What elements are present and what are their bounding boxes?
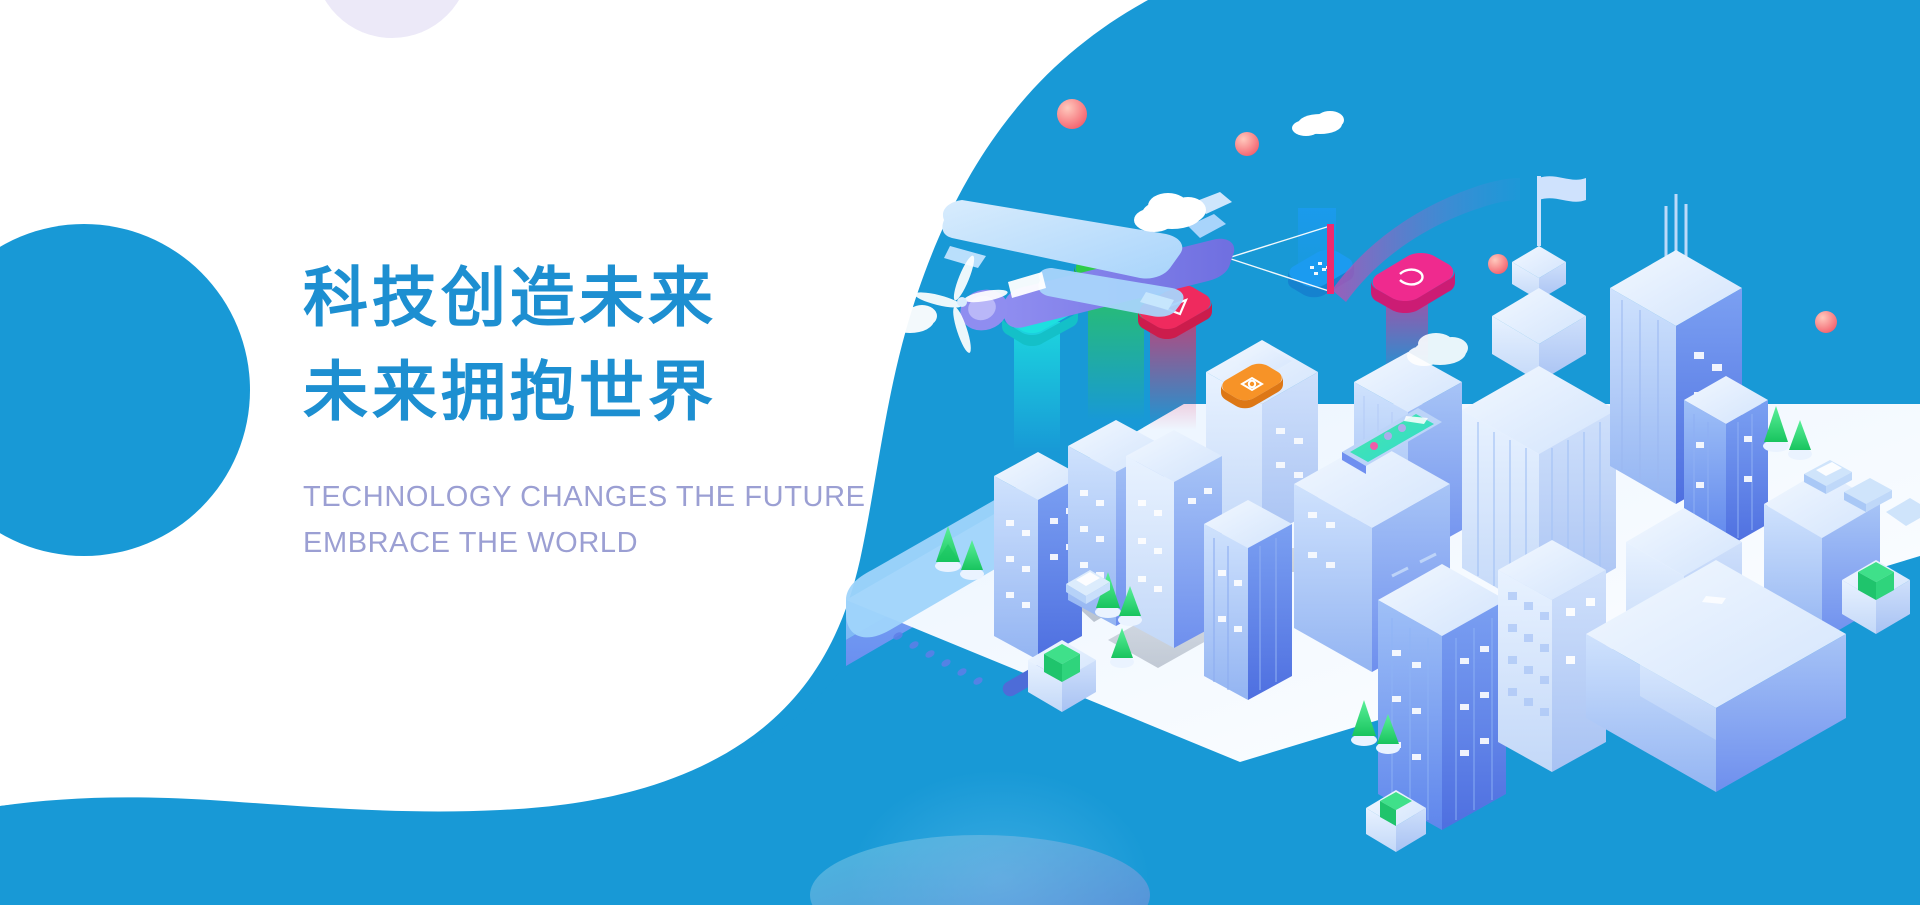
headline-line-1: 科技创造未来	[303, 252, 923, 346]
balloon-pink-far	[1815, 311, 1837, 333]
building-front-residential	[1378, 564, 1506, 830]
building-flag-tower	[1462, 176, 1616, 612]
headline-line-2: 未来拥抱世界	[303, 346, 923, 440]
subtitle-line-2: EMBRACE THE WORLD	[303, 520, 923, 566]
balloon-pink-mid	[1235, 132, 1259, 156]
subtitle-line-1: TECHNOLOGY CHANGES THE FUTURE	[303, 474, 923, 520]
hero-banner: 科技创造未来 未来拥抱世界 TECHNOLOGY CHANGES THE FUT…	[0, 0, 1920, 905]
building-orange-badge-tower	[1204, 500, 1292, 700]
cloud-right	[1292, 111, 1344, 136]
badge-pink-phone	[1371, 253, 1455, 313]
flag	[1539, 176, 1586, 201]
balloon-pink-left	[1057, 99, 1087, 129]
hero-subtitle: TECHNOLOGY CHANGES THE FUTURE EMBRACE TH…	[303, 474, 923, 566]
isometric-city-illustration	[0, 0, 1920, 905]
hero-copy: 科技创造未来 未来拥抱世界 TECHNOLOGY CHANGES THE FUT…	[303, 252, 923, 566]
balloon-pink-right	[1488, 254, 1508, 274]
trail-flag	[1327, 224, 1334, 294]
